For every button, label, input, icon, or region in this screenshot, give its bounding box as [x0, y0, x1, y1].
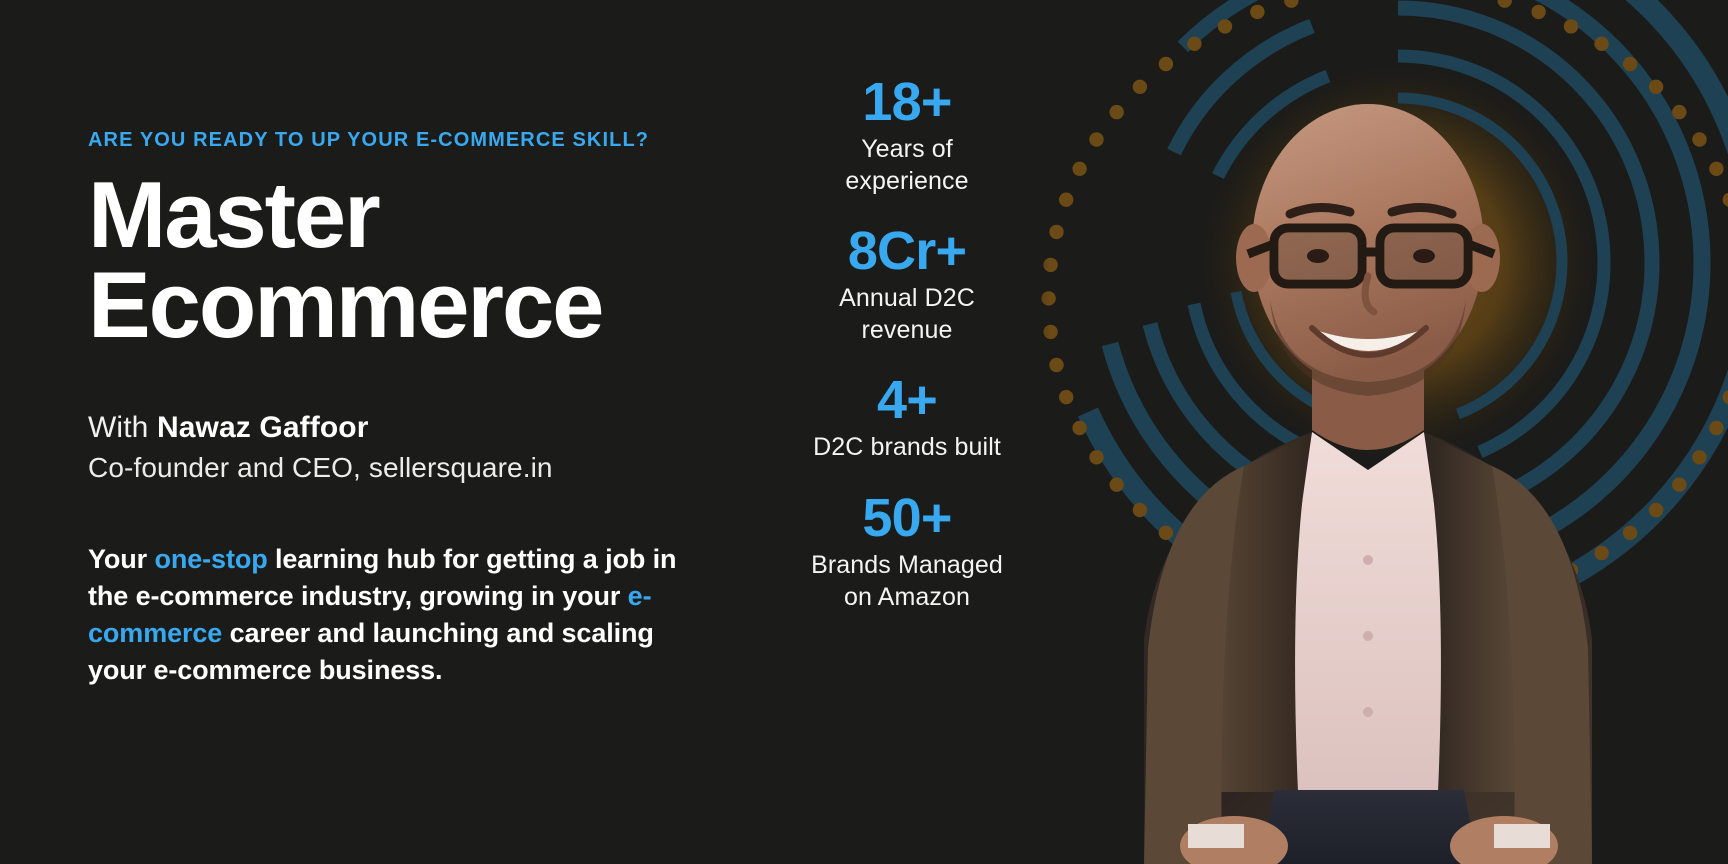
pitch-part-1: Your — [88, 544, 154, 574]
stats-column: 18+ Years of experience 8Cr+ Annual D2C … — [800, 74, 1014, 613]
headline-line-2: Ecommerce — [88, 260, 768, 350]
eyebrow-text: ARE YOU READY TO UP YOUR E-COMMERCE SKIL… — [88, 128, 768, 152]
stat-value: 18+ — [800, 74, 1014, 130]
stat-label: Years of experience — [800, 134, 1014, 197]
stat-item: 4+ D2C brands built — [800, 372, 1014, 464]
pitch-paragraph: Your one-stop learning hub for getting a… — [88, 541, 718, 689]
presenter-prefix: With — [88, 411, 157, 444]
presenter-role: Co-founder and CEO, sellersquare.in — [88, 450, 768, 487]
presenter-line: With Nawaz Gaffoor — [88, 408, 768, 448]
presenter-portrait-photo — [1012, 0, 1728, 864]
hero-copy-block: ARE YOU READY TO UP YOUR E-COMMERCE SKIL… — [88, 128, 768, 689]
page-title: Master Ecommerce — [88, 170, 768, 350]
stat-item: 8Cr+ Annual D2C revenue — [800, 223, 1014, 346]
stat-value: 4+ — [800, 372, 1014, 428]
stat-label: D2C brands built — [800, 432, 1014, 464]
stat-value: 50+ — [800, 490, 1014, 546]
presenter-name: Nawaz Gaffoor — [157, 411, 369, 444]
pitch-highlight-1: one-stop — [154, 544, 267, 574]
stat-item: 50+ Brands Managed on Amazon — [800, 490, 1014, 613]
stat-label: Brands Managed on Amazon — [800, 550, 1014, 613]
stat-item: 18+ Years of experience — [800, 74, 1014, 197]
promo-banner: ARE YOU READY TO UP YOUR E-COMMERCE SKIL… — [0, 0, 1728, 864]
stat-value: 8Cr+ — [800, 223, 1014, 279]
stat-label: Annual D2C revenue — [800, 283, 1014, 346]
